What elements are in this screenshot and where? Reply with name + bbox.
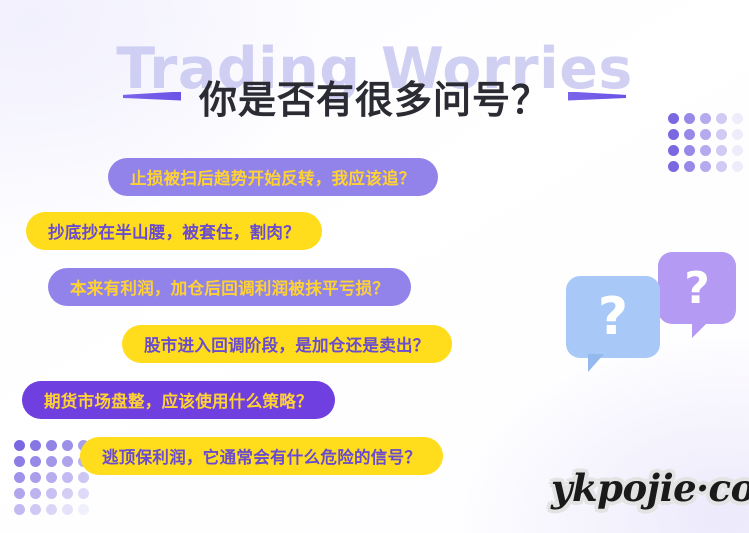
- dot: [668, 129, 679, 140]
- dot: [46, 456, 57, 467]
- dash-right-icon: [568, 92, 626, 101]
- dot: [14, 440, 25, 451]
- question-bubble-4[interactable]: 股市进入回调阶段，是加仓还是卖出？: [122, 325, 452, 363]
- dot: [732, 161, 743, 172]
- dot: [46, 472, 57, 483]
- question-bubble-2[interactable]: 抄底抄在半山腰，被套住，割肉？: [26, 212, 322, 250]
- dot: [14, 488, 25, 499]
- dot: [78, 488, 89, 499]
- speech-bubble-back-icon: ?: [658, 252, 736, 324]
- dot: [30, 456, 41, 467]
- speech-bubble-front-icon: ?: [566, 276, 660, 358]
- question-mark-glyph-back: ?: [684, 263, 710, 314]
- question-mark-glyph-front: ?: [598, 287, 628, 347]
- dot: [716, 161, 727, 172]
- dot: [46, 440, 57, 451]
- dot: [30, 472, 41, 483]
- dot: [732, 129, 743, 140]
- dot: [700, 145, 711, 156]
- speech-bubble-back-tail: [692, 320, 710, 338]
- dot: [684, 129, 695, 140]
- dot: [78, 504, 89, 515]
- dot: [14, 472, 25, 483]
- dot: [30, 488, 41, 499]
- dot: [62, 472, 73, 483]
- question-bubble-3[interactable]: 本来有利润，加仓后回调利润被抹平亏损？: [48, 268, 411, 306]
- dot: [30, 440, 41, 451]
- dot: [700, 161, 711, 172]
- speech-bubble-illustration: ? ?: [566, 248, 742, 366]
- speech-bubble-front-tail: [588, 354, 604, 372]
- watermark: ykpojie·com: [551, 466, 749, 510]
- dot: [46, 488, 57, 499]
- dot: [78, 472, 89, 483]
- dot: [62, 488, 73, 499]
- dot: [732, 145, 743, 156]
- question-bubble-5[interactable]: 期货市场盘整，应该使用什么策略？: [22, 381, 335, 419]
- dot: [716, 129, 727, 140]
- dot: [668, 145, 679, 156]
- dot: [14, 504, 25, 515]
- dot: [30, 504, 41, 515]
- question-bubble-6[interactable]: 逃顶保利润，它通常会有什么危险的信号？: [80, 437, 443, 475]
- poster-canvas: Trading Worries 你是否有很多问号？ 止损被扫后趋势开始反转，我应…: [0, 0, 749, 533]
- dot: [668, 161, 679, 172]
- dot: [46, 504, 57, 515]
- dot: [716, 145, 727, 156]
- dot: [62, 456, 73, 467]
- dot: [684, 161, 695, 172]
- dot: [14, 456, 25, 467]
- question-bubble-1[interactable]: 止损被扫后趋势开始反转，我应该追？: [108, 158, 438, 196]
- dot: [700, 129, 711, 140]
- dot: [62, 504, 73, 515]
- dot: [62, 440, 73, 451]
- headline-row: 你是否有很多问号？: [0, 68, 749, 124]
- dot: [684, 145, 695, 156]
- dash-left-icon: [123, 92, 181, 101]
- page-title: 你是否有很多问号？: [199, 69, 550, 124]
